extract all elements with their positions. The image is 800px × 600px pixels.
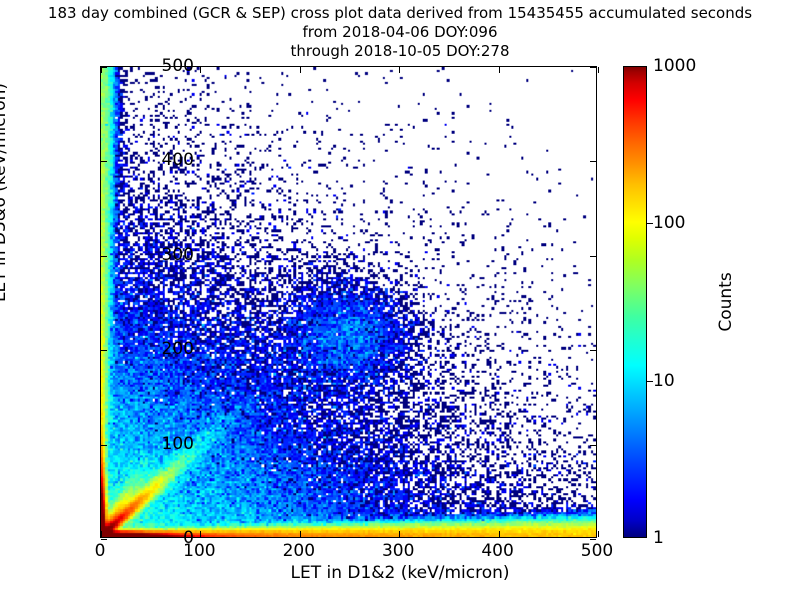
y-axis-tick-right <box>590 539 596 540</box>
y-axis-tick-label: 300 <box>162 245 194 265</box>
x-axis-tick-label: 500 <box>581 541 613 561</box>
colorbar-tick-label: 100 <box>653 213 685 233</box>
plot-axes <box>100 66 597 538</box>
x-axis-tick-top <box>101 67 102 73</box>
x-axis-tick-label: 300 <box>382 541 414 561</box>
x-axis-tick <box>300 531 301 537</box>
y-axis-tick-right <box>590 350 596 351</box>
figure-canvas: 183 day combined (GCR & SEP) cross plot … <box>0 0 800 600</box>
x-axis-tick <box>200 531 201 537</box>
y-axis-tick-label: 100 <box>162 434 194 454</box>
x-axis-tick <box>101 531 102 537</box>
x-axis-tick-label: 0 <box>95 541 106 561</box>
y-axis-tick-right <box>590 445 596 446</box>
y-axis-tick <box>101 350 107 351</box>
y-axis-tick-label: 200 <box>162 339 194 359</box>
colorbar-tick-label: 1000 <box>653 56 696 76</box>
x-axis-tick-top <box>598 67 599 73</box>
y-axis-tick-right <box>590 67 596 68</box>
colorbar-label: Counts <box>716 272 736 331</box>
title-line-2: from 2018-04-06 DOY:096 <box>0 23 800 42</box>
x-axis-label: LET in D1&2 (keV/micron) <box>0 563 800 583</box>
x-axis-tick <box>598 531 599 537</box>
x-axis-tick-label: 200 <box>283 541 315 561</box>
x-axis-tick-top <box>300 67 301 73</box>
colorbar-tick-label: 10 <box>653 371 675 391</box>
x-axis-tick <box>399 531 400 537</box>
y-axis-tick <box>101 256 107 257</box>
y-axis-tick-right <box>590 161 596 162</box>
x-axis-tick-top <box>499 67 500 73</box>
x-axis-tick-top <box>200 67 201 73</box>
y-axis-tick <box>101 161 107 162</box>
colorbar-tick-label: 1 <box>653 528 664 548</box>
title-line-1: 183 day combined (GCR & SEP) cross plot … <box>0 4 800 23</box>
x-axis-tick-label: 100 <box>183 541 215 561</box>
heatmap-image <box>101 67 596 537</box>
y-axis-tick <box>101 539 107 540</box>
y-axis-tick-label: 400 <box>162 150 194 170</box>
x-axis-tick-top <box>399 67 400 73</box>
y-axis-tick-label: 500 <box>162 56 194 76</box>
x-axis-tick-label: 400 <box>481 541 513 561</box>
x-axis-tick <box>499 531 500 537</box>
y-axis-tick <box>101 445 107 446</box>
y-axis-tick-right <box>590 256 596 257</box>
y-axis-label: LET in D5&6 (keV/micron) <box>0 83 10 302</box>
plot-title: 183 day combined (GCR & SEP) cross plot … <box>0 4 800 61</box>
colorbar-gradient <box>623 66 647 538</box>
